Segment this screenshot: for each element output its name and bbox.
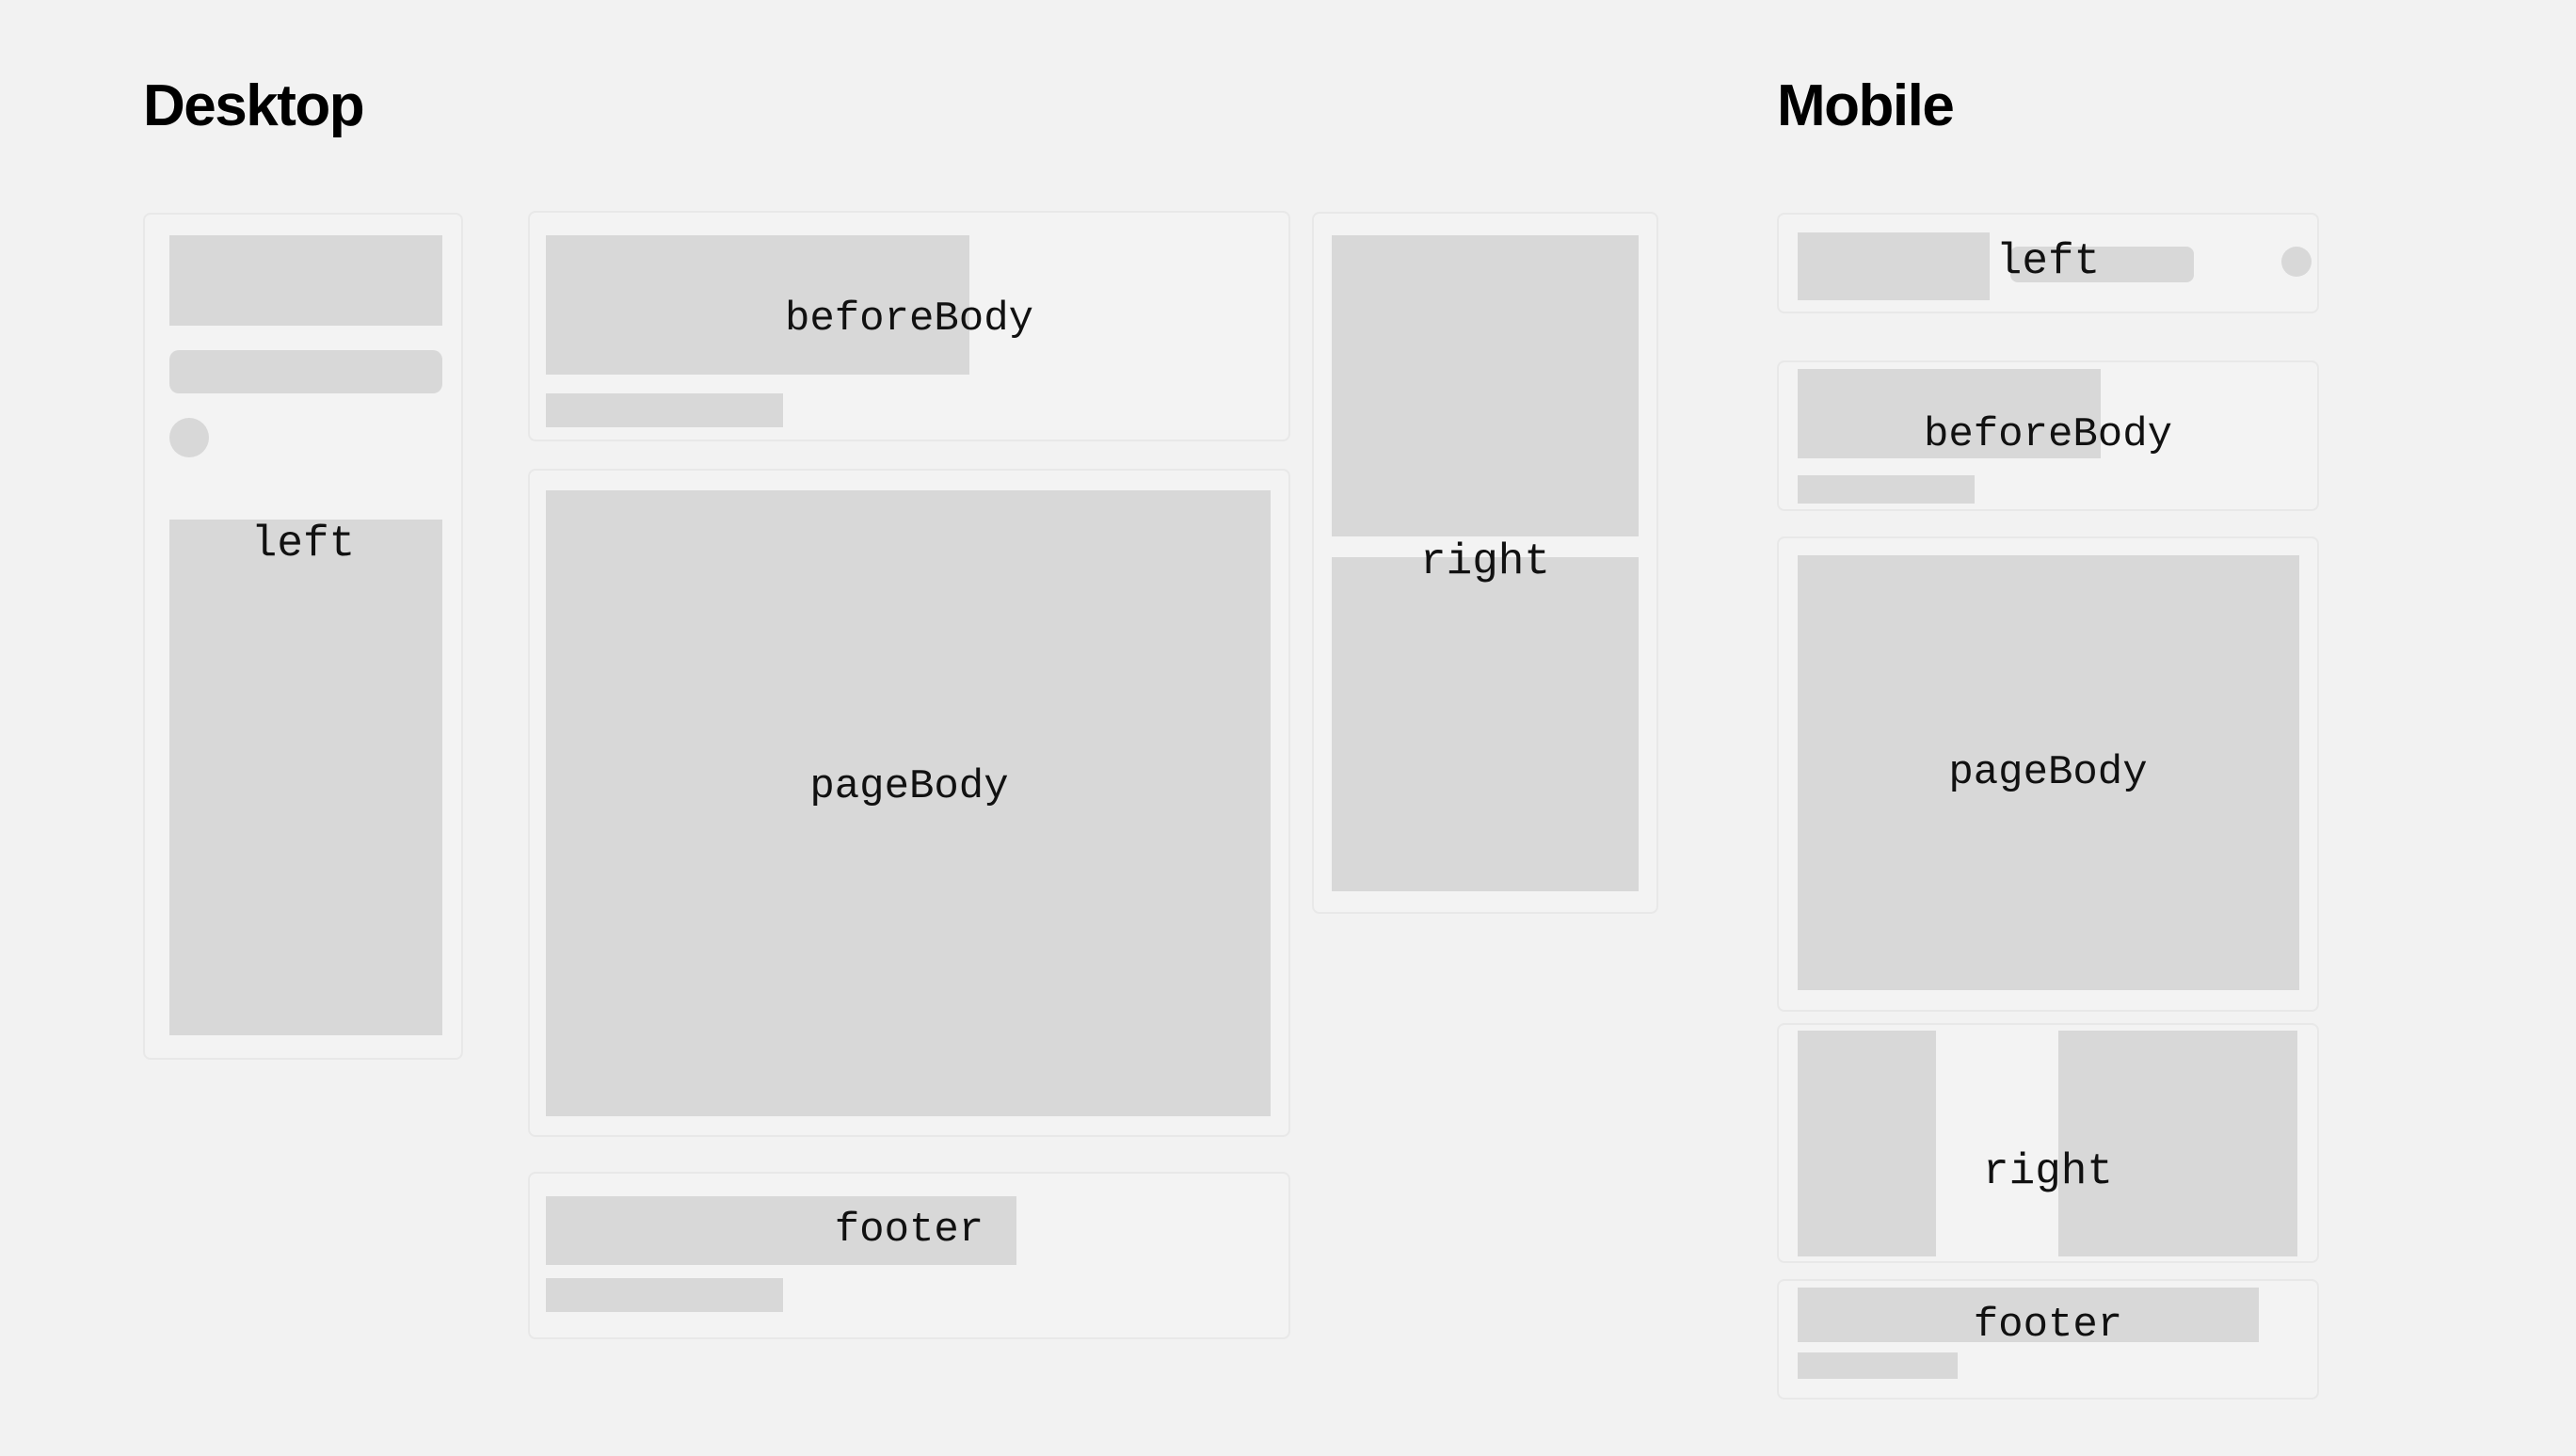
skeleton-block-strip (1798, 475, 1975, 504)
skeleton-block-pagebody (1798, 555, 2299, 990)
skeleton-block-right-bottom (1332, 557, 1639, 891)
skeleton-block-right-right (2058, 1031, 2297, 1256)
skeleton-block-pagebody (546, 490, 1271, 1116)
skeleton-avatar-circle (169, 418, 209, 457)
skeleton-block-footer-hero (1798, 1288, 2259, 1342)
skeleton-block-sidebar-body (169, 520, 442, 1035)
skeleton-block-mobile-header (1798, 232, 1990, 300)
skeleton-block-hero (1798, 369, 2101, 458)
skeleton-block-footer-hero (546, 1196, 1016, 1265)
skeleton-block-right-left (1798, 1031, 1936, 1256)
skeleton-block-pill (169, 350, 442, 393)
skeleton-block-footer-strip (1798, 1352, 1958, 1379)
mobile-section-title: Mobile (1777, 77, 1953, 136)
skeleton-block-hero (546, 235, 969, 375)
skeleton-block-mobile-pill (2010, 247, 2194, 282)
skeleton-block-header (169, 235, 442, 326)
skeleton-block-footer-strip (546, 1278, 783, 1312)
skeleton-avatar-circle (2281, 247, 2312, 277)
layout-preview-canvas: Desktop left beforeBody pageBody footer … (0, 0, 2576, 1456)
desktop-section-title: Desktop (143, 77, 363, 136)
skeleton-block-strip (546, 393, 783, 427)
skeleton-block-right-top (1332, 235, 1639, 536)
